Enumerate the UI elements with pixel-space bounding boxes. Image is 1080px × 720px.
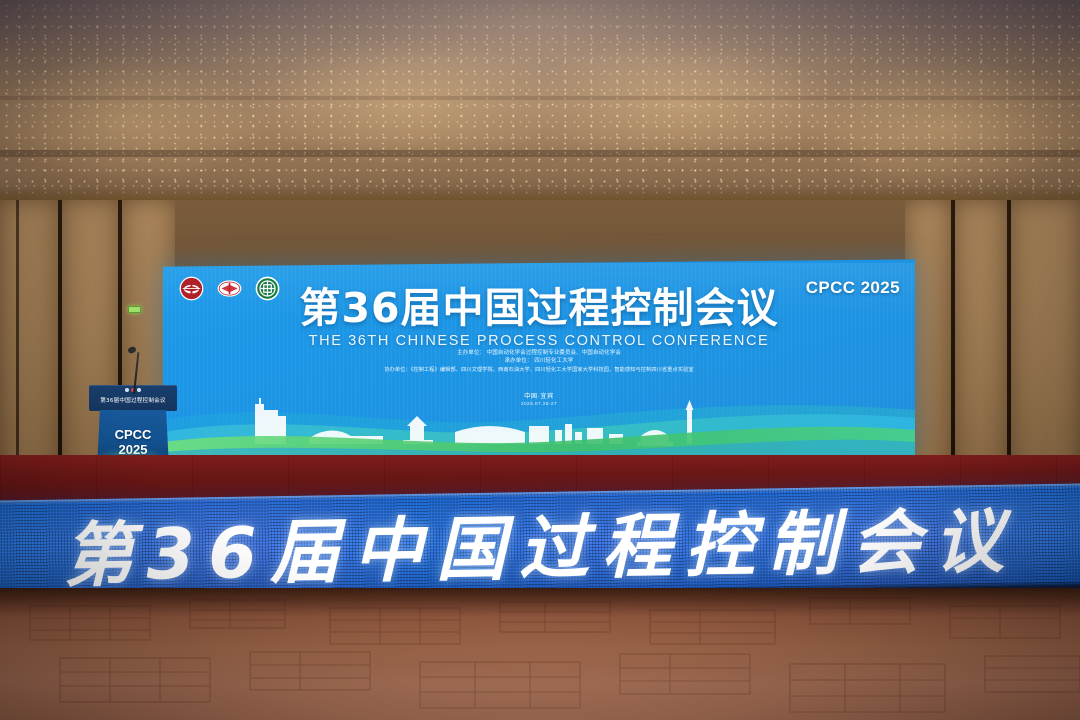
main-led-screen: CPCC 2025 第36届中国过程控制会议 THE 36TH CHINESE … (163, 259, 915, 463)
organizer-text-block: 主办单位： 中国自动化学会过程控制专业委员会、中国自动化学会 承办单位： 四川轻… (163, 349, 915, 374)
podium-title-text: 第36届中国过程控制会议 (89, 396, 177, 404)
conference-stage-photo: CPCC 2025 第36届中国过程控制会议 THE 36TH CHINESE … (0, 0, 1080, 720)
screen-title-block: 第36届中国过程控制会议 THE 36TH CHINESE PROCESS CO… (163, 287, 915, 349)
wave-skyline-graphic (163, 386, 915, 460)
host-organization-line: 主办单位： 中国自动化学会过程控制专业委员会、中国自动化学会 (163, 349, 915, 357)
conference-title-cn: 第36届中国过程控制会议 (163, 287, 915, 330)
stage-front-led-strip: 第36届中国过程控制会议 (0, 483, 1080, 602)
carpet-shading (0, 588, 1080, 720)
conference-title-en: THE 36TH CHINESE PROCESS CONTROL CONFERE… (163, 333, 915, 349)
ceiling (0, 0, 1080, 215)
ceiling-string-lights-layer3 (0, 0, 1080, 215)
podium-logo-dot (137, 388, 141, 392)
carpet-floor (0, 588, 1080, 720)
undertaking-organization-line: 承办单位： 四川轻化工大学 (163, 357, 915, 365)
co-organizer-line: 协办单位：《控制工程》编辑部、四川文理学院、西南石油大学、四川轻化工大学国家大学… (163, 366, 915, 374)
podium-logo-dot (125, 388, 129, 392)
podium-badge-line1: CPCC (97, 428, 169, 443)
ceiling-beam-upper (0, 96, 1080, 100)
exit-sign (128, 306, 141, 313)
ceiling-beam (0, 150, 1080, 157)
